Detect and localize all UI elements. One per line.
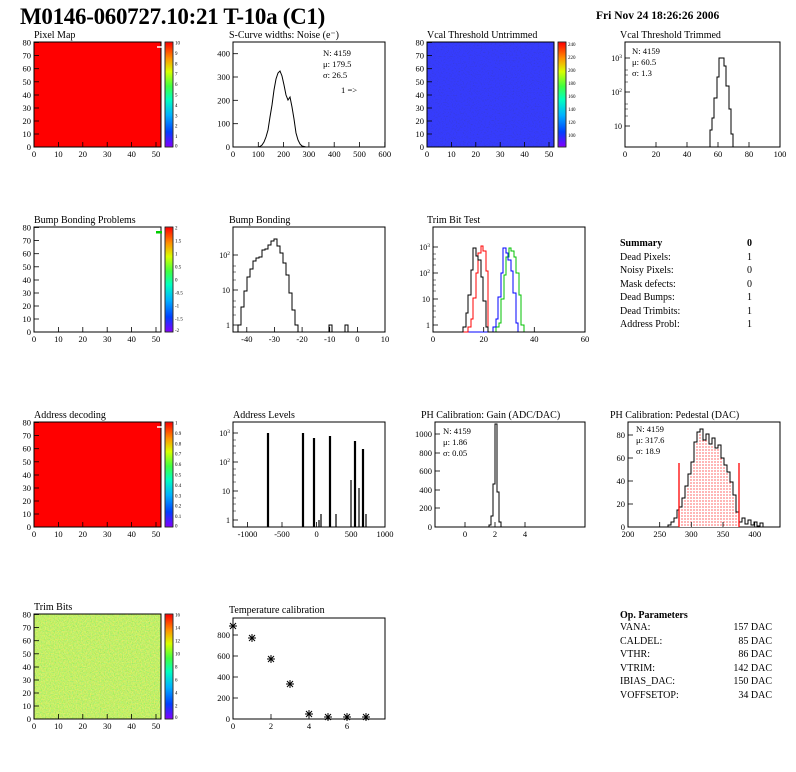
- svg-text:0.3: 0.3: [175, 494, 182, 499]
- op-row-vana: VANA: 157 DAC: [620, 622, 688, 636]
- svg-text:20: 20: [416, 116, 425, 126]
- svg-text:50: 50: [152, 721, 161, 731]
- svg-text:0.2: 0.2: [175, 505, 182, 510]
- svg-text:7: 7: [175, 73, 178, 78]
- svg-text:103: 103: [419, 243, 430, 252]
- svg-text:10: 10: [54, 149, 63, 159]
- svg-text:0: 0: [32, 721, 36, 731]
- svg-text:10: 10: [222, 487, 230, 496]
- svg-text:30: 30: [103, 334, 112, 344]
- svg-text:0.6: 0.6: [175, 463, 182, 468]
- svg-text:20: 20: [23, 116, 32, 126]
- chart-pixel-map: Pixel Map 01020 304050: [12, 30, 197, 160]
- svg-text:10: 10: [23, 314, 32, 324]
- svg-text:350: 350: [717, 529, 730, 539]
- label: Mask defects:: [620, 279, 676, 290]
- svg-text:20: 20: [617, 499, 626, 509]
- value: 1: [738, 319, 752, 330]
- svg-text:0.4: 0.4: [175, 484, 182, 489]
- label: Dead Pixels:: [620, 252, 671, 263]
- svg-text:10: 10: [175, 653, 181, 658]
- svg-text:1: 1: [226, 321, 230, 330]
- svg-text:30: 30: [103, 529, 112, 539]
- svg-text:40: 40: [23, 662, 32, 672]
- svg-text:1.5: 1.5: [175, 240, 182, 245]
- svg-text:60: 60: [416, 64, 425, 74]
- bump-problems-plot: 01020 304050 01020 304050 607080 21.51 0…: [12, 215, 197, 345]
- svg-text:60: 60: [581, 334, 590, 344]
- svg-text:500: 500: [345, 529, 358, 539]
- label: VTHR:: [620, 649, 650, 660]
- page-title: M0146-060727.10:21 T-10a (C1): [20, 4, 325, 30]
- chart-title: S-Curve widths: Noise (e⁻): [229, 30, 339, 41]
- svg-text:5: 5: [175, 94, 178, 99]
- svg-text:600: 600: [217, 651, 230, 661]
- svg-text:40: 40: [127, 529, 136, 539]
- svg-text:6: 6: [345, 721, 349, 731]
- svg-text:20: 20: [23, 301, 32, 311]
- svg-text:60: 60: [617, 453, 626, 463]
- svg-text:160: 160: [568, 95, 576, 100]
- svg-text:16: 16: [175, 614, 181, 619]
- svg-text:220: 220: [568, 56, 576, 61]
- svg-text:2: 2: [269, 721, 273, 731]
- svg-text:800: 800: [419, 448, 432, 458]
- op-row-ibias-dac: IBIAS_DAC: 150 DAC: [620, 676, 688, 690]
- chart-title: Address Levels: [233, 410, 295, 421]
- stat-mu: μ: 179.5: [323, 59, 357, 70]
- chart-stats: N: 4159 μ: 317.6 σ: 18.9: [636, 424, 664, 457]
- svg-text:40: 40: [23, 275, 32, 285]
- svg-text:2: 2: [175, 705, 178, 710]
- stat-extra: 1 =>: [341, 85, 357, 96]
- svg-text:0: 0: [463, 529, 467, 539]
- svg-text:40: 40: [23, 470, 32, 480]
- stat-n: N: 4159: [632, 46, 660, 57]
- svg-text:10: 10: [416, 129, 425, 139]
- stat-sigma: σ: 18.9: [636, 446, 664, 457]
- svg-text:102: 102: [219, 458, 230, 467]
- svg-text:120: 120: [568, 121, 576, 126]
- svg-text:20: 20: [79, 149, 88, 159]
- svg-text:400: 400: [217, 672, 230, 682]
- svg-text:80: 80: [416, 38, 425, 48]
- stat-n: N: 4159: [323, 48, 357, 59]
- svg-text:40: 40: [617, 476, 626, 486]
- svg-text:40: 40: [127, 721, 136, 731]
- svg-text:200: 200: [419, 503, 432, 513]
- svg-text:140: 140: [568, 108, 576, 113]
- value: 150 DAC: [716, 676, 772, 687]
- svg-text:70: 70: [416, 51, 425, 61]
- stat-sigma: σ: 0.05: [443, 448, 471, 459]
- svg-text:50: 50: [545, 149, 554, 159]
- value: 157 DAC: [716, 622, 772, 633]
- svg-text:2: 2: [175, 227, 178, 232]
- svg-text:30: 30: [103, 149, 112, 159]
- chart-title: Bump Bonding Problems: [34, 215, 136, 226]
- svg-text:2: 2: [493, 529, 497, 539]
- svg-text:20: 20: [652, 149, 661, 159]
- svg-text:200: 200: [217, 95, 230, 105]
- op-row-vthr: VTHR: 86 DAC: [620, 649, 688, 663]
- svg-text:0: 0: [32, 149, 36, 159]
- svg-text:500: 500: [353, 149, 366, 159]
- stat-mu: μ: 1.86: [443, 437, 471, 448]
- svg-text:60: 60: [23, 444, 32, 454]
- svg-text:80: 80: [23, 38, 32, 48]
- svg-text:0.8: 0.8: [175, 442, 182, 447]
- svg-text:300: 300: [303, 149, 316, 159]
- svg-text:-1.5: -1.5: [175, 318, 183, 323]
- svg-text:102: 102: [611, 88, 622, 97]
- svg-text:12: 12: [175, 640, 181, 645]
- chart-title: Trim Bits: [34, 602, 72, 613]
- svg-text:400: 400: [748, 529, 761, 539]
- svg-text:80: 80: [745, 149, 754, 159]
- label: IBIAS_DAC:: [620, 676, 675, 687]
- svg-text:50: 50: [23, 457, 32, 467]
- svg-text:1000: 1000: [377, 529, 394, 539]
- svg-text:40: 40: [520, 149, 529, 159]
- vcal-trimmed-plot: 02040 6080100 10102 103: [600, 30, 790, 160]
- svg-text:1: 1: [175, 135, 178, 140]
- svg-text:20: 20: [472, 149, 481, 159]
- svg-text:0: 0: [425, 149, 429, 159]
- stat-sigma: σ: 26.5: [323, 70, 357, 81]
- svg-text:70: 70: [23, 51, 32, 61]
- svg-text:-30: -30: [269, 334, 280, 344]
- bump-bonding-plot: -40-30-20 -10010 110 102: [205, 215, 395, 345]
- svg-text:80: 80: [23, 418, 32, 428]
- svg-text:0: 0: [621, 522, 625, 532]
- stat-mu: μ: 317.6: [636, 435, 664, 446]
- svg-text:4: 4: [175, 104, 178, 109]
- svg-text:300: 300: [685, 529, 698, 539]
- svg-text:80: 80: [617, 430, 626, 440]
- value: 34 DAC: [716, 690, 772, 701]
- svg-text:0: 0: [175, 279, 178, 284]
- svg-text:3: 3: [175, 114, 178, 119]
- address-levels-plot: -1000-5000 5001000 110 102 103: [205, 410, 395, 540]
- svg-text:20: 20: [79, 529, 88, 539]
- op-parameters-heading: Op. Parameters: [620, 610, 688, 621]
- svg-text:40: 40: [530, 334, 539, 344]
- svg-text:60: 60: [23, 636, 32, 646]
- chart-scurve-widths: S-Curve widths: Noise (e⁻) 0100200 30040…: [205, 30, 395, 160]
- svg-text:0: 0: [428, 522, 432, 532]
- svg-text:0.9: 0.9: [175, 432, 182, 437]
- summary-heading: Summary: [620, 238, 662, 249]
- svg-text:800: 800: [217, 630, 230, 640]
- svg-text:400: 400: [217, 49, 230, 59]
- svg-text:50: 50: [152, 529, 161, 539]
- svg-text:40: 40: [127, 149, 136, 159]
- svg-text:30: 30: [23, 288, 32, 298]
- temperature-plot: 024 6 0200400 600800: [205, 602, 395, 732]
- svg-text:0: 0: [623, 149, 627, 159]
- svg-text:10: 10: [54, 529, 63, 539]
- op-row-vtrim: VTRIM: 142 DAC: [620, 663, 688, 677]
- svg-text:20: 20: [23, 496, 32, 506]
- svg-text:200: 200: [568, 69, 576, 74]
- scurve-plot: 0100200 300400500 600 0100200 300400: [205, 30, 395, 160]
- ph-pedestal-plot: 200250300 350400 02040 6080: [600, 410, 790, 540]
- stat-sigma: σ: 1.3: [632, 68, 660, 79]
- svg-text:0.7: 0.7: [175, 453, 182, 458]
- svg-text:0: 0: [27, 522, 31, 532]
- svg-text:10: 10: [381, 334, 390, 344]
- svg-text:10: 10: [23, 509, 32, 519]
- svg-text:20: 20: [79, 334, 88, 344]
- svg-text:200: 200: [217, 693, 230, 703]
- svg-text:180: 180: [568, 82, 576, 87]
- svg-text:0: 0: [175, 145, 178, 150]
- svg-text:300: 300: [217, 72, 230, 82]
- svg-text:102: 102: [419, 269, 430, 278]
- svg-text:8: 8: [175, 62, 178, 67]
- svg-text:40: 40: [127, 334, 136, 344]
- chart-stats: N: 4159 μ: 1.86 σ: 0.05: [443, 426, 471, 459]
- svg-text:10: 10: [23, 129, 32, 139]
- svg-text:1: 1: [226, 516, 230, 525]
- svg-text:103: 103: [219, 429, 230, 438]
- value: 85 DAC: [716, 636, 772, 647]
- svg-text:10: 10: [614, 122, 622, 131]
- svg-text:0: 0: [231, 149, 235, 159]
- summary-heading-value: 0: [738, 238, 752, 249]
- svg-text:0: 0: [27, 327, 31, 337]
- label: VOFFSETOP:: [620, 690, 679, 701]
- svg-text:50: 50: [152, 334, 161, 344]
- svg-text:102: 102: [219, 251, 230, 260]
- svg-text:10: 10: [222, 286, 230, 295]
- svg-text:-20: -20: [296, 334, 307, 344]
- stat-mu: μ: 60.5: [632, 57, 660, 68]
- chart-title: Address decoding: [34, 410, 106, 421]
- svg-text:200: 200: [277, 149, 290, 159]
- svg-text:0: 0: [231, 721, 235, 731]
- svg-text:50: 50: [23, 649, 32, 659]
- op-parameters-panel: Op. Parameters VANA: 157 DAC CALDEL: 85 …: [620, 610, 688, 703]
- value: 1: [738, 292, 752, 303]
- op-row-caldel: CALDEL: 85 DAC: [620, 636, 688, 650]
- label: CALDEL:: [620, 636, 662, 647]
- svg-text:0: 0: [420, 142, 424, 152]
- svg-text:100: 100: [568, 134, 576, 139]
- chart-vcal-threshold-untrimmed: Vcal Threshold Untrimmed: [405, 30, 595, 160]
- svg-text:8: 8: [175, 666, 178, 671]
- svg-text:2: 2: [175, 125, 178, 130]
- svg-text:0: 0: [32, 529, 36, 539]
- label: Dead Trimbits:: [620, 306, 680, 317]
- svg-text:600: 600: [419, 466, 432, 476]
- svg-text:0: 0: [431, 334, 435, 344]
- chart-vcal-threshold-trimmed: Vcal Threshold Trimmed 02040 6080100 101…: [600, 30, 790, 160]
- value: 0: [738, 279, 752, 290]
- label: Address Probl:: [620, 319, 680, 330]
- label: Dead Bumps:: [620, 292, 675, 303]
- value: 86 DAC: [716, 649, 772, 660]
- value: 142 DAC: [716, 663, 772, 674]
- chart-title: Bump Bonding: [229, 215, 290, 226]
- svg-text:250: 250: [653, 529, 666, 539]
- chart-stats: N: 4159 μ: 179.5 σ: 26.5 1 =>: [323, 48, 357, 96]
- svg-text:14: 14: [175, 627, 181, 632]
- svg-text:100: 100: [217, 119, 230, 129]
- trim-bits-plot: 01020 304050 01020 304050 607080 161412 …: [12, 602, 197, 732]
- svg-text:40: 40: [416, 90, 425, 100]
- svg-text:0: 0: [314, 529, 318, 539]
- svg-text:80: 80: [23, 610, 32, 620]
- chart-title: Temperature calibration: [229, 605, 325, 616]
- svg-text:10: 10: [175, 42, 181, 47]
- svg-text:100: 100: [774, 149, 787, 159]
- svg-text:1: 1: [175, 422, 178, 427]
- svg-text:100: 100: [252, 149, 265, 159]
- svg-text:50: 50: [23, 77, 32, 87]
- svg-text:30: 30: [23, 675, 32, 685]
- svg-text:10: 10: [54, 334, 63, 344]
- svg-text:103: 103: [611, 54, 622, 63]
- svg-text:30: 30: [103, 721, 112, 731]
- svg-text:-1: -1: [175, 305, 180, 310]
- label: VTRIM:: [620, 663, 655, 674]
- value: 1: [738, 306, 752, 317]
- svg-text:4: 4: [175, 692, 178, 697]
- chart-trim-bit-test: Trim Bit Test 02040 60 110 102 103: [405, 215, 595, 345]
- chart-ph-calibration-gain: PH Calibration: Gain (ADC/DAC) 024 02004…: [405, 410, 595, 540]
- svg-text:4: 4: [307, 721, 312, 731]
- svg-text:6: 6: [175, 83, 178, 88]
- value: 1: [738, 252, 752, 263]
- value: 0: [738, 265, 752, 276]
- svg-text:-10: -10: [324, 334, 335, 344]
- svg-text:6: 6: [175, 679, 178, 684]
- trim-bit-plot: 02040 60 110 102 103: [405, 215, 595, 345]
- svg-text:30: 30: [496, 149, 505, 159]
- op-row-voffsetop: VOFFSETOP: 34 DAC: [620, 690, 688, 704]
- chart-address-levels: Address Levels: [205, 410, 395, 540]
- svg-text:70: 70: [23, 623, 32, 633]
- svg-text:50: 50: [416, 77, 425, 87]
- svg-text:-2: -2: [175, 329, 180, 334]
- svg-text:400: 400: [419, 485, 432, 495]
- svg-text:-40: -40: [241, 334, 252, 344]
- svg-text:20: 20: [479, 334, 488, 344]
- svg-text:0.5: 0.5: [175, 266, 182, 271]
- svg-text:60: 60: [23, 64, 32, 74]
- chart-trim-bits: Trim Bits 01020 304050 01020 304050 6070…: [12, 602, 197, 732]
- chart-title: PH Calibration: Gain (ADC/DAC): [421, 410, 560, 421]
- svg-text:4: 4: [523, 529, 528, 539]
- svg-text:9: 9: [175, 52, 178, 57]
- svg-text:0.1: 0.1: [175, 515, 182, 520]
- svg-text:1000: 1000: [415, 429, 432, 439]
- stat-n: N: 4159: [636, 424, 664, 435]
- timestamp: Fri Nov 24 18:26:26 2006: [596, 10, 719, 22]
- svg-text:240: 240: [568, 43, 576, 48]
- chart-title: Vcal Threshold Trimmed: [620, 30, 721, 41]
- chart-address-decoding: Address decoding 01020 304050 01020 3040…: [12, 410, 197, 540]
- svg-text:0: 0: [175, 525, 178, 530]
- svg-text:-1000: -1000: [238, 529, 258, 539]
- pixel-map-plot: 01020 304050 01020 304050 607080 1098 76…: [12, 30, 197, 160]
- svg-text:0: 0: [32, 334, 36, 344]
- chart-title: Vcal Threshold Untrimmed: [427, 30, 537, 41]
- svg-text:70: 70: [23, 431, 32, 441]
- svg-text:20: 20: [79, 721, 88, 731]
- vcal-untrimmed-plot: 01020 304050 01020 304050 607080 2402202…: [405, 30, 595, 160]
- svg-text:0: 0: [27, 142, 31, 152]
- svg-text:20: 20: [23, 688, 32, 698]
- svg-text:0: 0: [226, 714, 230, 724]
- chart-stats: N: 4159 μ: 60.5 σ: 1.3: [632, 46, 660, 79]
- svg-text:0: 0: [27, 714, 31, 724]
- svg-text:60: 60: [714, 149, 723, 159]
- chart-title: Pixel Map: [34, 30, 75, 41]
- svg-text:10: 10: [54, 721, 63, 731]
- svg-text:30: 30: [23, 483, 32, 493]
- svg-text:70: 70: [23, 236, 32, 246]
- svg-text:0.5: 0.5: [175, 474, 182, 479]
- ph-gain-plot: 024 0200400 6008001000: [405, 410, 595, 540]
- svg-text:1: 1: [426, 321, 430, 330]
- svg-text:-0.5: -0.5: [175, 292, 183, 297]
- svg-text:60: 60: [23, 249, 32, 259]
- svg-text:0: 0: [226, 142, 230, 152]
- chart-bump-bonding: Bump Bonding -40-30-20 -10010 110 102: [205, 215, 395, 345]
- svg-text:30: 30: [416, 103, 425, 113]
- svg-text:-500: -500: [274, 529, 290, 539]
- svg-text:50: 50: [23, 262, 32, 272]
- svg-text:400: 400: [328, 149, 341, 159]
- svg-text:40: 40: [23, 90, 32, 100]
- stat-n: N: 4159: [443, 426, 471, 437]
- svg-text:50: 50: [152, 149, 161, 159]
- svg-text:10: 10: [23, 701, 32, 711]
- svg-text:40: 40: [683, 149, 692, 159]
- svg-text:80: 80: [23, 223, 32, 233]
- svg-text:0: 0: [175, 716, 178, 721]
- svg-text:1: 1: [175, 253, 178, 258]
- label: VANA:: [620, 622, 650, 633]
- chart-temperature-calibration: Temperature calibration 024 6 0200400 60…: [205, 602, 395, 732]
- chart-title: Trim Bit Test: [427, 215, 480, 226]
- chart-bump-bonding-problems: Bump Bonding Problems 01020 304050 01020…: [12, 215, 197, 345]
- chart-ph-calibration-pedestal: PH Calibration: Pedestal (DAC) 200250300…: [600, 410, 790, 540]
- svg-text:10: 10: [422, 295, 430, 304]
- svg-text:30: 30: [23, 103, 32, 113]
- label: Noisy Pixels:: [620, 265, 674, 276]
- svg-text:600: 600: [378, 149, 391, 159]
- svg-text:0: 0: [355, 334, 359, 344]
- svg-text:10: 10: [447, 149, 456, 159]
- chart-title: PH Calibration: Pedestal (DAC): [610, 410, 739, 421]
- address-decoding-plot: 01020 304050 01020 304050 607080 10.90.8…: [12, 410, 197, 540]
